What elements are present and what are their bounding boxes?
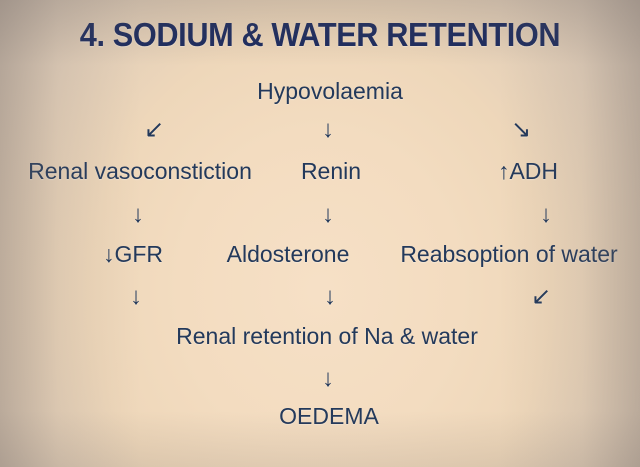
node-reabsorption-of-water: Reabsoption of water <box>400 243 617 266</box>
node-adh-increase: ↑ADH <box>498 160 558 183</box>
page-title: 4. SODIUM & WATER RETENTION <box>22 16 617 54</box>
node-hypovolaemia: Hypovolaemia <box>257 80 403 103</box>
node-renin: Renin <box>301 160 361 183</box>
arrow-down-icon-left2-to-converge: ↓ <box>130 285 142 309</box>
node-oedema: OEDEMA <box>279 405 379 428</box>
node-renal-vasoconstriction: Renal vasoconstiction <box>28 160 252 183</box>
arrow-down-icon-middle2-to-converge: ↓ <box>324 285 336 309</box>
arrow-down-icon-right1-to-right2: ↓ <box>540 203 552 227</box>
slide-canvas: 4. SODIUM & WATER RETENTION Hypovolaemia… <box>0 0 640 467</box>
node-aldosterone: Aldosterone <box>227 243 350 266</box>
arrow-down-icon-converge-to-outcome: ↓ <box>322 367 334 391</box>
arrow-down-icon-root-to-middle: ↓ <box>322 118 334 142</box>
arrow-down-left-icon-root-to-left: ↙ <box>144 118 164 142</box>
arrow-down-icon-left1-to-left2: ↓ <box>132 203 144 227</box>
node-renal-retention: Renal retention of Na & water <box>176 325 478 348</box>
arrow-down-left-icon-right2-to-converge: ↙ <box>531 285 551 309</box>
arrow-down-right-icon-root-to-right: ↘ <box>511 118 531 142</box>
arrow-down-icon-middle1-to-middle2: ↓ <box>322 203 334 227</box>
node-gfr-decrease: ↓GFR <box>103 243 163 266</box>
